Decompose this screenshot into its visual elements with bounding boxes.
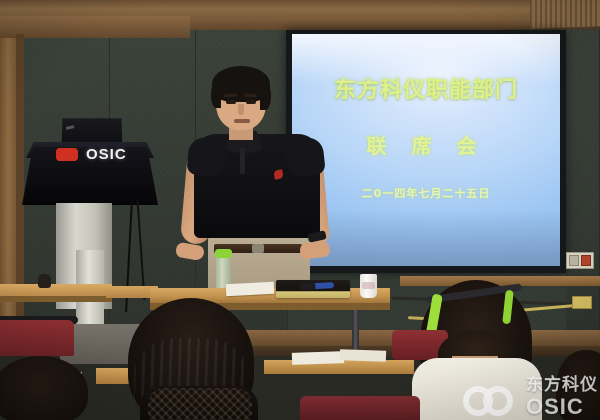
door-frame-inner-edge — [16, 34, 24, 324]
slide-title: 东方科仪职能部门 — [334, 72, 518, 104]
paper-cup-print — [362, 282, 375, 289]
chair-left — [0, 320, 74, 356]
table-left-back-edge — [0, 296, 112, 302]
slide-content: 东方科仪职能部门 联 席 会 二0一四年七月二十五日 — [292, 34, 560, 266]
speaker-hair-left — [211, 82, 221, 108]
front-table-leg-right — [352, 310, 359, 350]
outlet-indicator — [581, 255, 591, 266]
chair-front-row — [300, 396, 420, 420]
podium-brand-label: OSIC — [86, 146, 127, 163]
papers-on-table — [226, 282, 275, 296]
audience-person-lace-top — [148, 388, 252, 420]
door-frame-header — [0, 16, 190, 38]
papers-mid-row-secondary — [340, 349, 386, 362]
slide-date: 二0一四年七月二十五日 — [362, 185, 491, 201]
speaker-hair-right — [260, 82, 271, 110]
audience-person-white-top — [412, 358, 542, 420]
papers-mid-row — [292, 351, 344, 365]
speaker-eye-left — [226, 100, 236, 104]
cable-label-tag — [572, 296, 592, 309]
speaker-belt-buckle — [252, 244, 264, 253]
speaker-right-hand — [299, 240, 331, 259]
meeting-room-photo: 东方科仪职能部门 联 席 会 二0一四年七月二十五日 OSIC — [0, 0, 600, 420]
small-object-on-table — [38, 274, 51, 288]
speaker-person — [182, 62, 332, 302]
speaker-mouth — [234, 119, 250, 123]
speaker-nose — [238, 104, 244, 115]
glasses-on-head — [426, 284, 522, 306]
bottle-cap — [215, 249, 232, 258]
audience-person-far-right — [556, 350, 600, 420]
outlet-socket — [569, 255, 579, 266]
audience-person-left — [0, 356, 88, 420]
ceiling-vent-grille — [530, 0, 600, 30]
speaker-eye-right — [246, 100, 256, 104]
osic-logo-icon — [56, 148, 78, 161]
slide-subtitle: 联 席 会 — [367, 130, 486, 159]
speaker-shirt-placket — [240, 148, 245, 174]
speaker-left-sleeve — [186, 136, 228, 178]
speaker-right-sleeve — [284, 136, 326, 178]
wall-outlet-plate — [566, 252, 594, 269]
